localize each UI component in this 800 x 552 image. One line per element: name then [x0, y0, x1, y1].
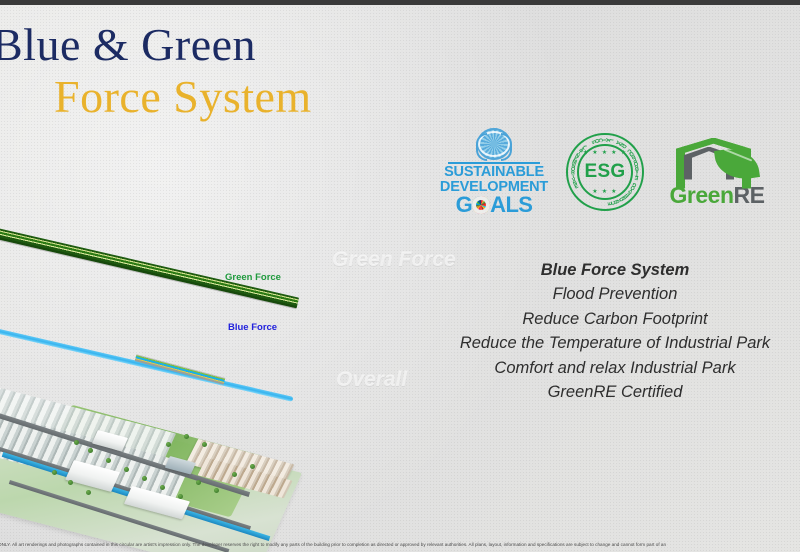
slide-canvas: Green Force Overall Blue & Green Force S… [0, 0, 800, 552]
tree [184, 434, 189, 439]
tree [166, 442, 171, 447]
feature-item: GreenRE Certified [440, 380, 790, 404]
tree [250, 464, 255, 469]
sdg-goals-suffix: ALS [490, 194, 532, 216]
feature-list: Blue Force System Flood Prevention Reduc… [440, 258, 790, 404]
feature-item: Reduce the Temperature of Industrial Par… [440, 331, 790, 355]
sdg-goals-prefix: G [456, 194, 473, 216]
tree [142, 476, 147, 481]
industrial-park-rendering [0, 368, 356, 544]
page-title: Blue & Green Force System [0, 22, 412, 120]
tree [160, 485, 165, 490]
greenre-roof-leaf-icon [676, 136, 758, 184]
green-force-band [0, 208, 299, 308]
feature-item: Flood Prevention [440, 282, 790, 306]
tree [196, 480, 201, 485]
tree [202, 442, 207, 447]
esg-logo: ENVIRONMENTAL, SOCIAL AND CORPORATE GOVE… [566, 133, 644, 211]
sdg-line-1: SUSTAINABLE [444, 165, 544, 180]
tree [88, 448, 93, 453]
label-green-force: Green Force [225, 272, 281, 283]
tree [232, 472, 237, 477]
feature-item: Comfort and relax Industrial Park [440, 356, 790, 380]
disclaimer-text: ONLY. All art renderings and photographs… [0, 542, 800, 548]
tree [214, 488, 219, 493]
tree [74, 440, 79, 445]
label-blue-force: Blue Force [228, 322, 277, 333]
certification-logos: SUSTAINABLE DEVELOPMENT G ALS ENVIRONMEN… [446, 126, 796, 218]
sdg-logo: SUSTAINABLE DEVELOPMENT G ALS [446, 128, 542, 217]
sdg-color-wheel-icon [472, 196, 490, 214]
esg-center-text: ESG [566, 133, 644, 211]
sdg-goals-line: G ALS [456, 194, 533, 216]
tree [86, 490, 91, 495]
tree [106, 458, 111, 463]
feature-heading: Blue Force System [440, 258, 790, 282]
feature-item: Reduce Carbon Footprint [440, 307, 790, 331]
window-top-bar [0, 0, 800, 5]
greenre-logo: GreenRE [668, 136, 766, 209]
tree [124, 467, 129, 472]
tree [178, 494, 183, 499]
tree [68, 480, 73, 485]
title-line-1: Blue & Green [0, 22, 412, 68]
tree [52, 470, 57, 475]
esg-stars-bottom: ★ ★ ★ [566, 188, 644, 195]
title-line-2: Force System [0, 74, 412, 120]
un-emblem-icon [477, 128, 511, 160]
